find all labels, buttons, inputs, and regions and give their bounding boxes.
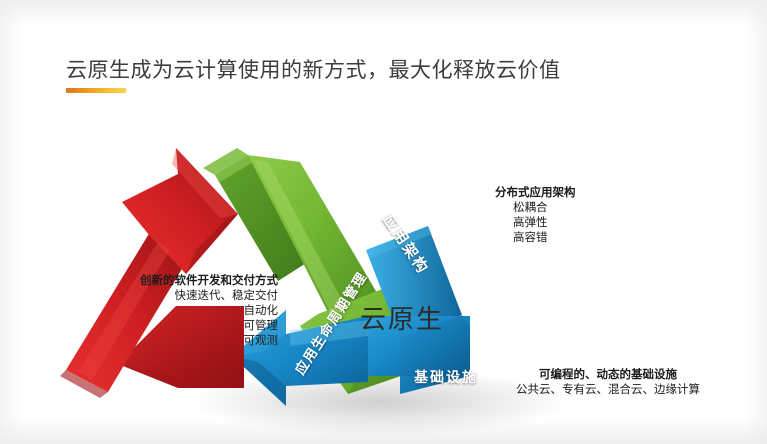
annotation-programmable-dynamic-infrastructure: 可编程的、动态的基础设施 公共云、专有云、混合云、边缘计算 (516, 366, 700, 397)
annotation-item: 松耦合 (513, 200, 576, 215)
annotation-heading: 分布式应用架构 (495, 184, 576, 200)
annotation-innovative-software-delivery: 创新的软件开发和交付方式 快速迭代、稳定交付 自动化 可管理 可观测 (110, 272, 278, 348)
annotation-item: 公共云、专有云、混合云、边缘计算 (516, 382, 700, 397)
annotation-heading: 可编程的、动态的基础设施 (516, 366, 700, 382)
annotation-item: 高容错 (513, 230, 576, 245)
annotation-item: 可观测 (110, 333, 278, 348)
annotation-item: 自动化 (110, 303, 278, 318)
title-accent-bar (66, 88, 126, 93)
annotation-item: 高弹性 (513, 215, 576, 230)
annotation-item: 可管理 (110, 318, 278, 333)
diagram-center-label: 云原生 (360, 299, 444, 336)
annotation-heading: 创新的软件开发和交付方式 (110, 272, 278, 288)
slide-canvas: 云原生成为云计算使用的新方式，最大化释放云价值 (0, 0, 767, 444)
annotation-item: 快速迭代、稳定交付 (110, 288, 278, 303)
page-title: 云原生成为云计算使用的新方式，最大化释放云价值 (66, 56, 561, 84)
annotation-distributed-application-architecture: 分布式应用架构 松耦合 高弹性 高容错 (495, 184, 576, 245)
